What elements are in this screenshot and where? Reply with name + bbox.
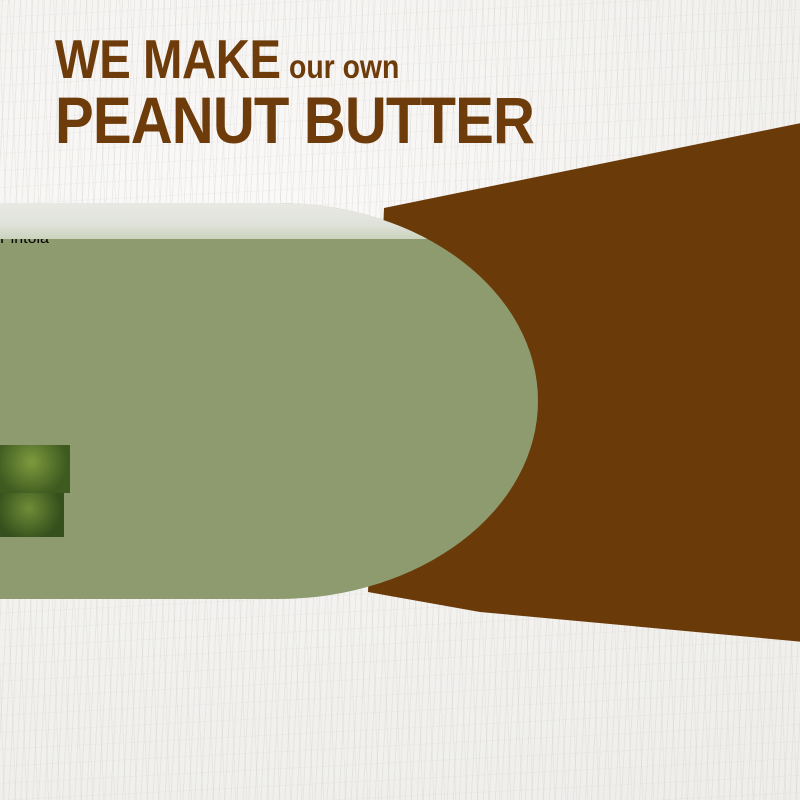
photo-foreground-tree bbox=[0, 493, 64, 537]
photo-foreground-tree bbox=[0, 445, 70, 493]
photo-silo bbox=[0, 291, 14, 317]
photo-silo bbox=[0, 248, 11, 270]
photo-potted-plant bbox=[0, 354, 22, 370]
headline-line-1: WE MAKE our own bbox=[55, 34, 675, 85]
headline-our-own: our own bbox=[289, 50, 399, 83]
facility-photo-canvas: Pintola bbox=[0, 203, 538, 599]
headline-we-make: WE MAKE bbox=[55, 34, 281, 85]
photo-treeline bbox=[0, 233, 538, 249]
photo-silo bbox=[0, 270, 11, 291]
photo-plant bbox=[0, 317, 20, 330]
photo-plant bbox=[0, 342, 18, 354]
photo-potted-plant bbox=[0, 370, 20, 385]
headline-block: WE MAKE our own PEANUT BUTTER bbox=[55, 34, 675, 152]
photo-plant bbox=[0, 330, 18, 342]
photo-foreground-tree bbox=[0, 385, 88, 445]
check-badge-icon bbox=[0, 787, 800, 800]
promo-poster: WE MAKE our own PEANUT BUTTER bbox=[0, 0, 800, 800]
facility-photo: Pintola bbox=[0, 203, 538, 599]
headline-peanut-butter: PEANUT BUTTER bbox=[55, 89, 601, 152]
